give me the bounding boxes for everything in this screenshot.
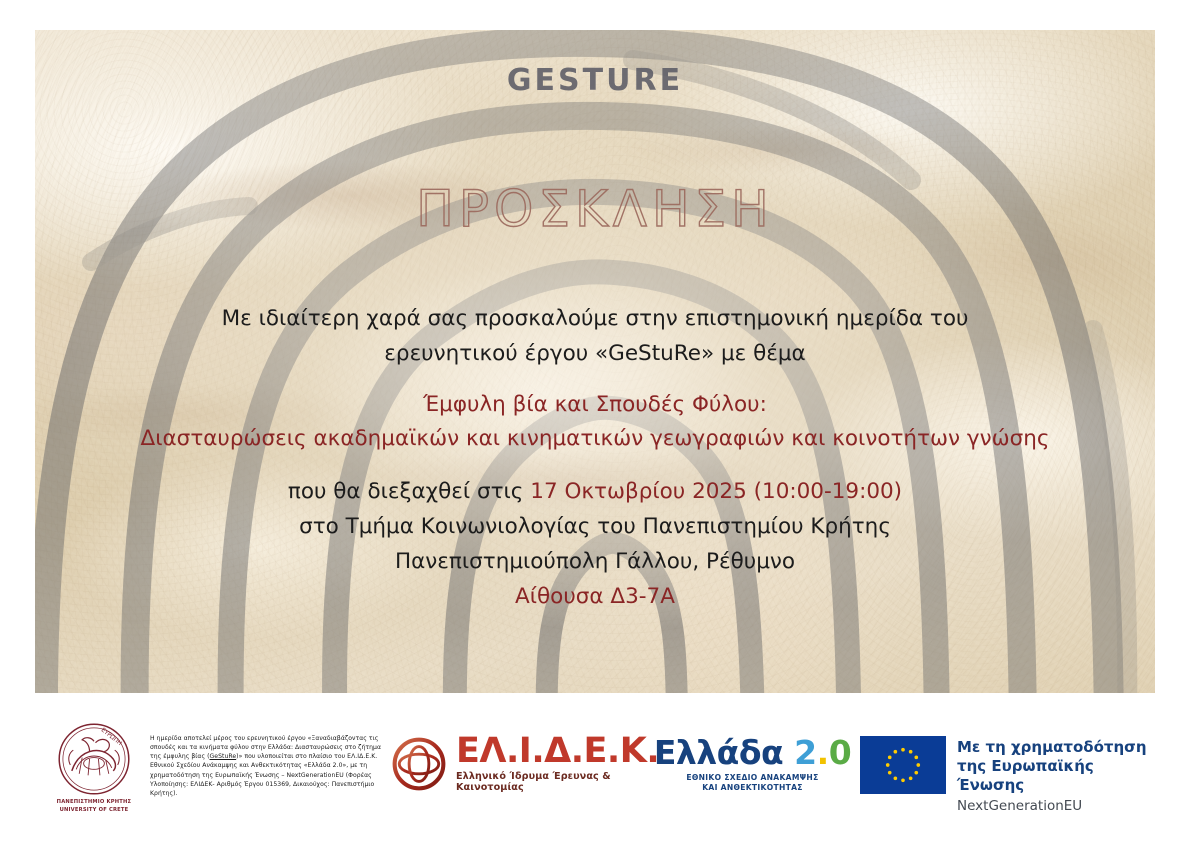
elidek-acronym: ΕΛ.Ι.Δ.Ε.Κ. [456, 734, 659, 769]
project-acronym-underlined: GeStuRe [210, 753, 237, 760]
intro-line-2: ερευνητικού έργου «GeStuRe» με θέμα [95, 337, 1095, 372]
elidek-subtitle: Ελληνικό Ίδρυμα Έρευνας & Καινοτομίας [456, 771, 659, 793]
eu-funding-line-3: NextGenerationEU [957, 798, 1158, 816]
eu-funding-text: Με τη χρηματοδότηση της Ευρωπαϊκής Ένωση… [957, 736, 1158, 815]
ellada-word: Ελλάδα [654, 733, 783, 772]
event-date-line: που θα διεξαχθεί στις 17 Οκτωβρίου 2025 … [95, 475, 1095, 510]
footer-inner: ΕΥΡΩΠΗ ΠΑΝΕΠΙΣΤΗΜΙΟ ΚΡΗΤΗΣ UNIVERSITY OF… [38, 714, 1158, 824]
theme-line-2: Διασταυρώσεις ακαδημαϊκών και κινηματικώ… [95, 422, 1095, 457]
ellada-zero: 0 [829, 733, 851, 772]
eu-funding-logo: Με τη χρηματοδότηση της Ευρωπαϊκής Ένωση… [860, 714, 1158, 815]
ellada-subtitle-line-2: ΚΑΙ ΑΝΘΕΚΤΙΚΟΤΗΤΑΣ [645, 783, 860, 793]
ellada-subtitle: ΕΘΝΙΚΟ ΣΧΕΔΙΟ ΑΝΑΚΑΜΨΗΣ ΚΑΙ ΑΝΘΕΚΤΙΚΟΤΗΤ… [645, 773, 860, 794]
uoc-caption-en: UNIVERSITY OF CRETE [38, 807, 150, 815]
poster-image: GESTURE ΠΡΟΣΚΛΗΣΗ Με ιδιαίτερη χαρά σας … [35, 30, 1155, 693]
event-date-value: 17 Οκτωβρίου 2025 (10:00-19:00) [530, 479, 902, 504]
ellada-two: 2 [794, 733, 816, 772]
elidek-logo: ΕΛ.Ι.Δ.Ε.Κ. Ελληνικό Ίδρυμα Έρευνας & Κα… [390, 714, 645, 793]
poster-content: GESTURE ΠΡΟΣΚΛΗΣΗ Με ιδιαίτερη χαρά σας … [35, 30, 1155, 693]
eu-funding-line-1: Με τη χρηματοδότηση [957, 738, 1158, 757]
theme-line-1: Έμφυλη βία και Σπουδές Φύλου: [95, 388, 1095, 423]
uoc-caption-gr: ΠΑΝΕΠΙΣΤΗΜΙΟ ΚΡΗΤΗΣ [38, 799, 150, 807]
poster-body: Με ιδιαίτερη χαρά σας προσκαλούμε στην ε… [95, 302, 1095, 615]
room-line: Αίθουσα Δ3-7Α [95, 580, 1095, 615]
ellada-wordmark: Ελλάδα 2.0 [645, 736, 860, 769]
funding-fine-print: Η ημερίδα αποτελεί μέρος του ερευνητικού… [150, 714, 390, 798]
university-of-crete-logo: ΕΥΡΩΠΗ ΠΑΝΕΠΙΣΤΗΜΙΟ ΚΡΗΤΗΣ UNIVERSITY OF… [38, 714, 150, 814]
spacer-theme-details [95, 457, 1095, 475]
elidek-emblem-icon [390, 735, 448, 793]
svg-text:ΕΥΡΩΠΗ: ΕΥΡΩΠΗ [100, 727, 123, 747]
elidek-text: ΕΛ.Ι.Δ.Ε.Κ. Ελληνικό Ίδρυμα Έρευνας & Κα… [456, 734, 659, 793]
gesture-project-logo: GESTURE [35, 63, 1155, 98]
uoc-caption: ΠΑΝΕΠΙΣΤΗΜΙΟ ΚΡΗΤΗΣ UNIVERSITY OF CRETE [38, 799, 150, 814]
uoc-seal-icon: ΕΥΡΩΠΗ [57, 722, 131, 796]
ellada-dot: . [817, 733, 829, 772]
eu-funding-line-2: της Ευρωπαϊκής Ένωσης [957, 757, 1158, 795]
eu-flag-icon [860, 736, 946, 794]
ellada-2-0-logo: Ελλάδα 2.0 ΕΘΝΙΚΟ ΣΧΕΔΙΟ ΑΝΑΚΑΜΨΗΣ ΚΑΙ Α… [645, 714, 860, 794]
spacer-intro-theme [95, 372, 1095, 388]
event-date-prefix: που θα διεξαχθεί στις [288, 479, 530, 504]
footer-logo-bar: ΕΥΡΩΠΗ ΠΑΝΕΠΙΣΤΗΜΙΟ ΚΡΗΤΗΣ UNIVERSITY OF… [0, 706, 1190, 842]
venue-line-2: Πανεπιστημιούπολη Γάλλου, Ρέθυμνο [95, 545, 1095, 580]
ellada-subtitle-line-1: ΕΘΝΙΚΟ ΣΧΕΔΙΟ ΑΝΑΚΑΜΨΗΣ [645, 773, 860, 783]
venue-line-1: στο Τμήμα Κοινωνιολογίας του Πανεπιστημί… [95, 510, 1095, 545]
intro-line-1: Με ιδιαίτερη χαρά σας προσκαλούμε στην ε… [95, 302, 1095, 337]
page-title: ΠΡΟΣΚΛΗΣΗ [35, 180, 1155, 238]
